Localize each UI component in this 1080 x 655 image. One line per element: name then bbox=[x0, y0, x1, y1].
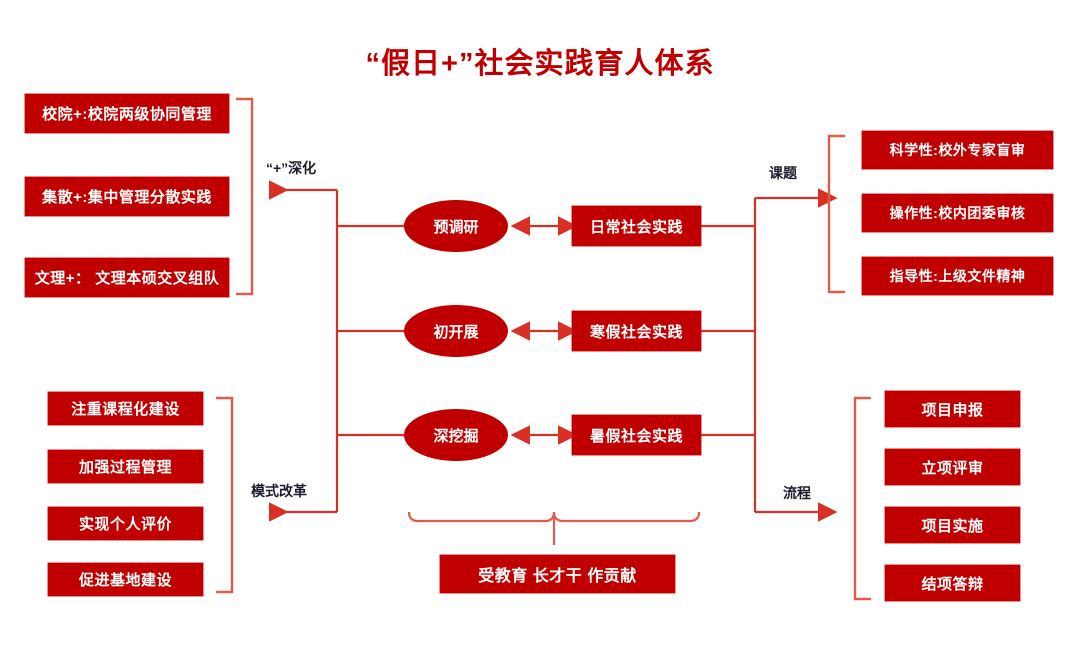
left-bottom-item-0[interactable]: 注重课程化建设 bbox=[48, 392, 203, 425]
left-bottom-item-2-label: 实现个人评价 bbox=[79, 513, 172, 534]
center-stage-1-label: 初开展 bbox=[433, 321, 478, 342]
right-bottom-connector-label: 流程 bbox=[783, 483, 811, 503]
left-bottom-item-1-label: 加强过程管理 bbox=[79, 456, 172, 477]
center-practice-2-label: 暑假社会实践 bbox=[590, 425, 683, 446]
center-practice-1-label: 寒假社会实践 bbox=[590, 321, 683, 342]
right-top-item-0[interactable]: 科学性:校外专家盲审 bbox=[862, 131, 1053, 169]
left-top-item-1[interactable]: 集散+:集中管理分散实践 bbox=[25, 177, 229, 216]
right-bottom-item-1-label: 立项评审 bbox=[921, 457, 983, 478]
left-top-item-0[interactable]: 校院+:校院两级协同管理 bbox=[25, 94, 229, 133]
center-practice-2[interactable]: 暑假社会实践 bbox=[572, 415, 701, 455]
center-practice-0-label: 日常社会实践 bbox=[590, 216, 683, 237]
right-bottom-item-3[interactable]: 结项答辩 bbox=[885, 565, 1020, 601]
left-bottom-item-2[interactable]: 实现个人评价 bbox=[48, 507, 203, 540]
center-practice-1[interactable]: 寒假社会实践 bbox=[572, 311, 701, 351]
right-bottom-item-3-label: 结项答辩 bbox=[921, 573, 983, 594]
left-bottom-connector-label: 模式改革 bbox=[251, 481, 307, 501]
left-bottom-item-0-label: 注重课程化建设 bbox=[71, 398, 180, 419]
left-top-item-2[interactable]: 文理+： 文理本硕交叉组队 bbox=[25, 258, 229, 297]
right-bottom-item-2-label: 项目实施 bbox=[921, 515, 983, 536]
right-bottom-item-0-label: 项目申报 bbox=[921, 399, 983, 420]
left-top-connector-label: “+”深化 bbox=[266, 158, 316, 178]
right-top-item-2-label: 指导性:上级文件精神 bbox=[890, 266, 1026, 286]
right-bottom-item-2[interactable]: 项目实施 bbox=[885, 507, 1020, 543]
left-top-item-0-label: 校院+:校院两级协同管理 bbox=[42, 103, 212, 124]
center-stage-2[interactable]: 深挖掘 bbox=[404, 409, 508, 461]
page-title: “假日+”社会实践育人体系 bbox=[0, 40, 1080, 82]
center-stage-2-label: 深挖掘 bbox=[433, 425, 478, 446]
center-stage-0[interactable]: 预调研 bbox=[404, 200, 508, 252]
right-bottom-item-0[interactable]: 项目申报 bbox=[885, 391, 1020, 427]
right-top-item-2[interactable]: 指导性:上级文件精神 bbox=[862, 257, 1053, 295]
center-stage-1[interactable]: 初开展 bbox=[404, 305, 508, 357]
right-top-item-1-label: 操作性:校内团委审核 bbox=[890, 203, 1026, 223]
left-top-item-2-label: 文理+： 文理本硕交叉组队 bbox=[35, 267, 219, 288]
left-bottom-item-3-label: 促进基地建设 bbox=[79, 569, 172, 590]
right-top-item-1[interactable]: 操作性:校内团委审核 bbox=[862, 194, 1053, 232]
outcome-box[interactable]: 受教育 长才干 作贡献 bbox=[440, 555, 675, 593]
left-bottom-item-3[interactable]: 促进基地建设 bbox=[48, 563, 203, 596]
outcome-label: 受教育 长才干 作贡献 bbox=[478, 562, 636, 586]
right-top-connector-label: 课题 bbox=[769, 163, 797, 183]
center-stage-0-label: 预调研 bbox=[433, 216, 478, 237]
right-bottom-item-1[interactable]: 立项评审 bbox=[885, 449, 1020, 485]
left-top-item-1-label: 集散+:集中管理分散实践 bbox=[42, 186, 212, 207]
diagram-canvas: “假日+”社会实践育人体系 bbox=[0, 0, 1080, 655]
right-top-item-0-label: 科学性:校外专家盲审 bbox=[890, 140, 1026, 160]
left-bottom-item-1[interactable]: 加强过程管理 bbox=[48, 450, 203, 483]
center-practice-0[interactable]: 日常社会实践 bbox=[572, 206, 701, 246]
